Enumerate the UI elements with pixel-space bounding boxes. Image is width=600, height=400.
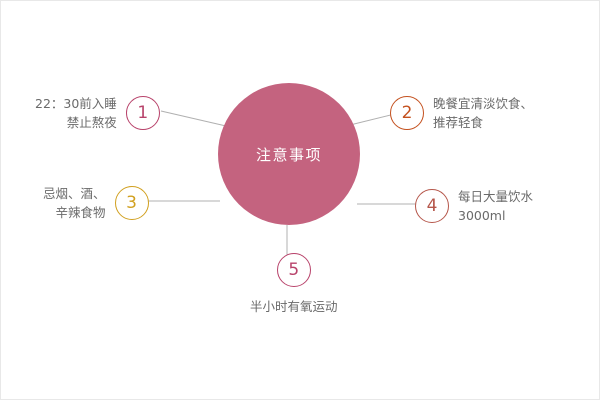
infographic-canvas: 注意事项 22：30前入睡 禁止熬夜 1 2 晚餐宜清淡饮食、 推荐轻食 忌烟、…: [0, 0, 600, 400]
hub-label: 注意事项: [256, 144, 322, 165]
node-1-badge[interactable]: 1: [126, 96, 160, 130]
node-3-line-2: 辛辣食物: [43, 203, 106, 222]
node-3[interactable]: 忌烟、酒、 辛辣食物 3: [43, 184, 149, 223]
node-5[interactable]: 5 半小时有氧运动: [250, 253, 338, 316]
node-4[interactable]: 4 每日大量饮水 3000ml: [415, 187, 533, 226]
node-2-text: 晚餐宜清淡饮食、 推荐轻食: [433, 94, 533, 133]
hub-circle: 注意事项: [218, 83, 360, 225]
connector-line-1: [161, 111, 226, 126]
node-2-badge[interactable]: 2: [390, 96, 424, 130]
node-1[interactable]: 22：30前入睡 禁止熬夜 1: [35, 94, 160, 133]
node-5-line-1: 半小时有氧运动: [250, 297, 338, 316]
node-4-line-2: 3000ml: [458, 206, 533, 225]
node-3-line-1: 忌烟、酒、: [43, 184, 106, 203]
node-1-text: 22：30前入睡 禁止熬夜: [35, 94, 117, 133]
node-3-text: 忌烟、酒、 辛辣食物: [43, 184, 106, 223]
node-1-line-2: 禁止熬夜: [35, 113, 117, 132]
node-4-badge[interactable]: 4: [415, 189, 449, 223]
node-5-badge[interactable]: 5: [277, 253, 311, 287]
node-2[interactable]: 2 晚餐宜清淡饮食、 推荐轻食: [390, 94, 533, 133]
node-4-text: 每日大量饮水 3000ml: [458, 187, 533, 226]
node-2-line-1: 晚餐宜清淡饮食、: [433, 94, 533, 113]
node-3-badge[interactable]: 3: [115, 186, 149, 220]
node-4-line-1: 每日大量饮水: [458, 187, 533, 206]
node-5-text: 半小时有氧运动: [250, 297, 338, 316]
node-1-line-1: 22：30前入睡: [35, 94, 117, 113]
node-2-line-2: 推荐轻食: [433, 113, 533, 132]
